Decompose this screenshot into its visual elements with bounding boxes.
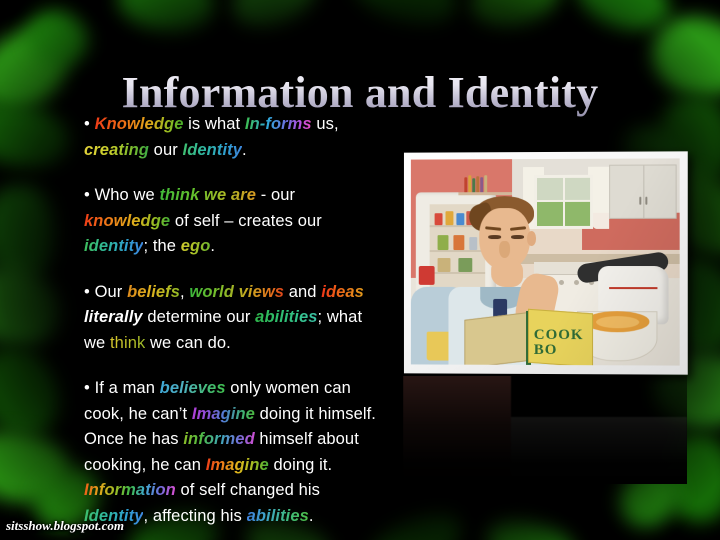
photo-reflection xyxy=(403,376,687,484)
emphasis-word: think xyxy=(110,334,145,352)
text-run: Who we xyxy=(95,186,160,204)
text-run: - our xyxy=(256,186,295,204)
emphasis-word: Imagine xyxy=(192,405,255,423)
bullet-marker: • xyxy=(84,115,95,133)
photo-reflection-copy xyxy=(403,376,687,484)
emphasis-word: In-forms xyxy=(245,115,312,133)
text-run: . xyxy=(309,507,314,525)
text-run: If a man xyxy=(95,379,160,397)
photo-shading xyxy=(411,158,680,365)
emphasis-word: believes xyxy=(160,379,226,397)
bullet-marker: • xyxy=(84,283,95,301)
emphasis-word: Identity xyxy=(183,141,242,159)
text-run: ; the xyxy=(143,237,180,255)
emphasis-word: beliefs xyxy=(127,283,180,301)
bullet-list: • Knowledge is what In-forms us, creatin… xyxy=(84,112,384,529)
bullet-paragraph: • Our beliefs, world views and ideas lit… xyxy=(84,280,384,357)
emphasis-word: literally xyxy=(84,308,143,326)
kitchen-illustration: COOK BO xyxy=(411,158,680,365)
watermark: sitsshow.blogspot.com xyxy=(6,518,124,534)
text-run: our xyxy=(149,141,183,159)
reflection-fade xyxy=(403,376,687,484)
emphasis-word: world views xyxy=(189,283,284,301)
emphasis-word: knowledge xyxy=(84,212,170,230)
bullet-paragraph: • Who we think we are - our knowledge of… xyxy=(84,183,384,260)
text-run: we can do. xyxy=(145,334,231,352)
emphasis-word: identity xyxy=(84,237,143,255)
emphasis-word: ego xyxy=(181,237,211,255)
text-run: Our xyxy=(95,283,128,301)
emphasis-word: informed xyxy=(183,430,254,448)
emphasis-word: abilities xyxy=(247,507,309,525)
emphasis-word: Knowledge xyxy=(95,115,184,133)
text-run: doing it. xyxy=(269,456,332,474)
emphasis-word: Information xyxy=(84,481,176,499)
text-run: . xyxy=(242,141,247,159)
bullet-paragraph: • If a man believes only women can cook,… xyxy=(84,376,384,529)
emphasis-word: Imagine xyxy=(206,456,269,474)
photo-frame: COOK BO xyxy=(404,151,688,374)
emphasis-word: creating xyxy=(84,141,149,159)
emphasis-word: think we are xyxy=(159,186,256,204)
text-run: of self – creates our xyxy=(170,212,322,230)
text-run: and xyxy=(284,283,321,301)
text-run: us, xyxy=(312,115,339,133)
bullet-marker: • xyxy=(84,379,95,397)
text-run: determine our xyxy=(143,308,255,326)
text-run: is what xyxy=(183,115,244,133)
bullet-marker: • xyxy=(84,186,95,204)
text-run: of self changed his xyxy=(176,481,320,499)
emphasis-word: ideas xyxy=(321,283,364,301)
bullet-paragraph: • Knowledge is what In-forms us, creatin… xyxy=(84,112,384,163)
text-run: , affecting his xyxy=(143,507,246,525)
emphasis-word: abilities xyxy=(255,308,317,326)
text-run: . xyxy=(210,237,215,255)
slide: Information and Identity • Knowledge is … xyxy=(0,0,720,540)
